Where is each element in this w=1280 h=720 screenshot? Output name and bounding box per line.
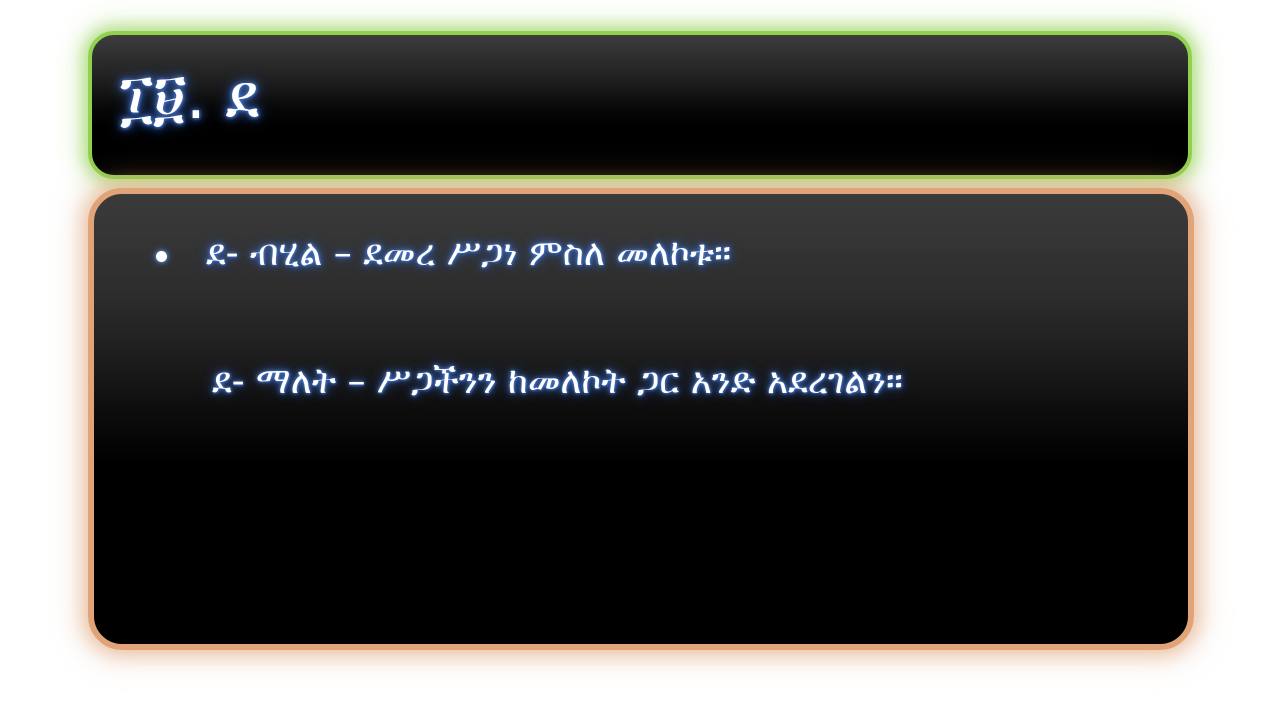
- bullet-dot-icon: [156, 251, 167, 262]
- body-paragraph: ደ- ማለት – ሥጋችንን ከመለኮት ጋር አንድ አደረገልን።: [124, 358, 1144, 406]
- slide-title-placeholder[interactable]: ፲፱. ደ: [88, 31, 1192, 179]
- body-content: ደ- ብሂል – ደመረ ሥጋነ ምስለ መለኮቱ። ደ- ማለት – ሥጋችን…: [94, 194, 1188, 644]
- page-title: ፲፱. ደ: [120, 61, 259, 132]
- presentation-slide: ፲፱. ደ ደ- ብሂል – ደመረ ሥጋነ ምስለ መለኮቱ። ደ- ማለት …: [0, 0, 1280, 720]
- list-item: ደ- ብሂል – ደመረ ሥጋነ ምስለ መለኮቱ።: [124, 232, 1158, 276]
- slide-body-placeholder[interactable]: ደ- ብሂል – ደመረ ሥጋነ ምስለ መለኮቱ። ደ- ማለት – ሥጋችን…: [88, 188, 1194, 650]
- bullet-text: ደ- ብሂል – ደመረ ሥጋነ ምስለ መለኮቱ።: [206, 233, 731, 274]
